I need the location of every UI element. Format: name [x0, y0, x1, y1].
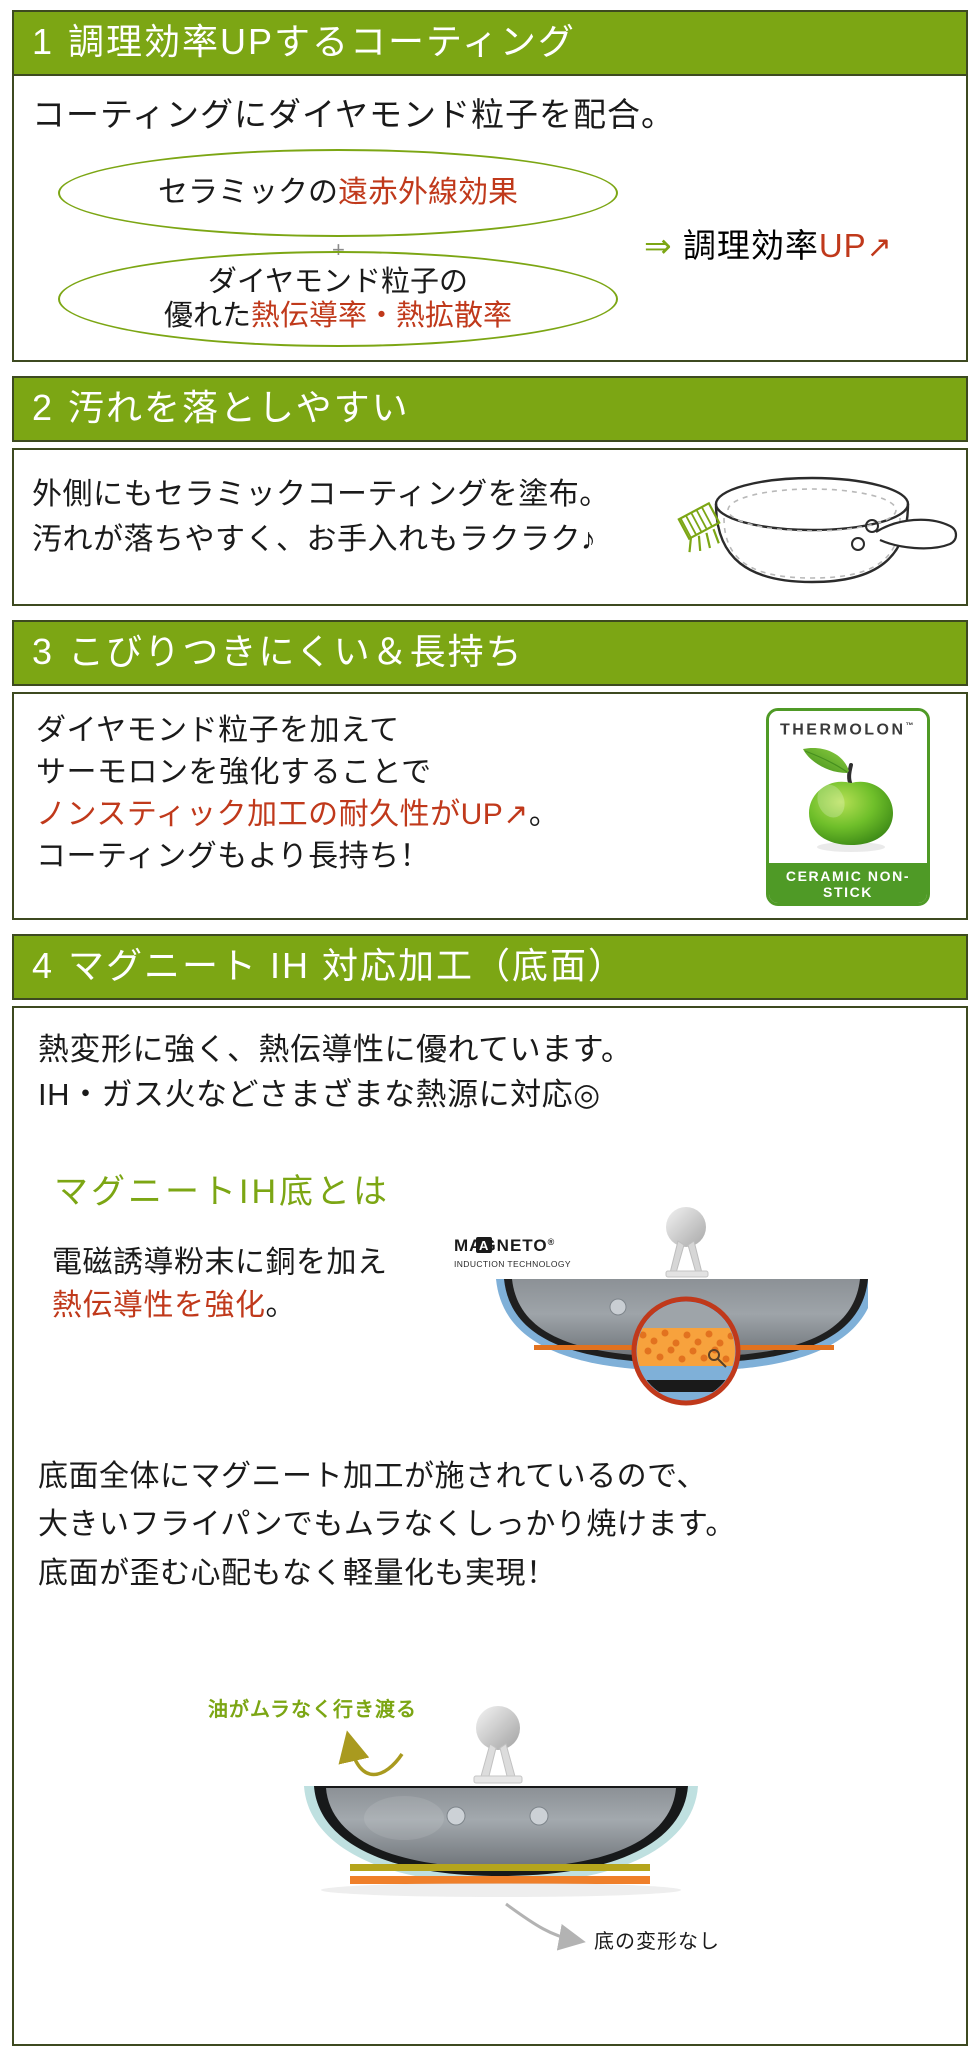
section-3-header: 3こびりつきにくい＆長持ち: [12, 620, 968, 686]
right-arrow-icon: ⇒: [644, 227, 673, 264]
label-oil-spreads: 油がムラなく行き渡る: [208, 1697, 417, 1721]
magneto-subtitle: INDUCTION TECHNOLOGY: [454, 1259, 571, 1269]
section-2-number: 2: [32, 387, 54, 428]
thermolon-logo: THERMOLON™: [766, 708, 930, 906]
section-4-body: 熱変形に強く、熱伝導性に優れています。 IH・ガス火などさまざまな熱源に対応◎ …: [12, 1006, 968, 2046]
ellipse1-black-text: セラミックの: [158, 176, 338, 209]
section-3-title: こびりつきにくい＆長持ち: [68, 631, 524, 672]
section-2-title: 汚れを落としやすい: [68, 387, 410, 428]
ellipse2-line2-black: 優れた: [164, 300, 251, 332]
section-2-easy-clean: 2汚れを落としやすい 外側にもセラミックコーティングを塗布。 汚れが落ちやすく、…: [12, 376, 968, 606]
section-4-middle-block: 電磁誘導粉末に銅を加え 熱伝導性を強化。: [38, 1241, 948, 1451]
ellipse2-line1: ダイヤモンド粒子の: [208, 266, 468, 298]
section-4-number: 4: [32, 945, 54, 986]
thermolon-wordmark: THERMOLON™: [769, 711, 927, 739]
section-1-diagram: セラミックの遠赤外線効果 + ダイヤモンド粒子の 優れた熱伝導率・熱拡散率 ⇒ …: [32, 145, 948, 345]
section-2-body: 外側にもセラミックコーティングを塗布。 汚れが落ちやすく、お手入れもラクラク♪: [12, 448, 968, 606]
pan-no-deformation-diagram: 油がムラなく行き渡る 底の変形なし: [154, 1668, 854, 1968]
thermolon-name: THERMOLON: [780, 721, 906, 738]
ellipse-diamond-conductivity: ダイヤモンド粒子の 優れた熱伝導率・熱拡散率: [58, 251, 618, 347]
thermolon-caption-sub: RESPONSIBLE TECHNOLOGY: [769, 902, 927, 906]
section-4-magneto-ih: 4マグニート IH 対応加工（底面） 熱変形に強く、熱伝導性に優れています。 I…: [12, 934, 968, 2046]
magneto-pan-cross-section-icon: MAGNETO® A INDUCTION TECHNOLOGY: [438, 1203, 868, 1433]
section-4-title: マグニート IH 対応加工（底面）: [68, 945, 626, 986]
ellipse-ceramic-infrared: セラミックの遠赤外線効果: [58, 149, 618, 237]
up-right-arrow-icon: ↗: [867, 231, 893, 264]
section-3-body: ダイヤモンド粒子を加えて サーモロンを強化することで ノンスティック加工の耐久性…: [12, 692, 968, 920]
svg-text:A: A: [479, 1238, 489, 1253]
result-black-text: 調理効率: [683, 227, 819, 264]
section-3-line-3-tail: 。: [529, 798, 560, 831]
green-apple-icon: [769, 739, 930, 857]
section-4-para-line-3: 底面が歪む心配もなく軽量化も実現！: [38, 1552, 948, 1596]
section-3-nonstick-durable: 3こびりつきにくい＆長持ち ダイヤモンド粒子を加えて サーモロンを強化することで…: [12, 620, 968, 920]
thermolon-caption-main: CERAMIC NON-STICK: [769, 868, 927, 900]
section-1-title: 調理効率UPするコーティング: [68, 21, 576, 62]
thermolon-logo-top: THERMOLON™: [769, 711, 927, 863]
saucepan-with-brush-icon: [662, 458, 962, 608]
section-4-para-line-1: 底面全体にマグニート加工が施されているので、: [38, 1455, 948, 1499]
magneto-wordmark: MAGNETO®: [454, 1236, 555, 1255]
section-4-lead-line-2: IH・ガス火などさまざまな熱源に対応◎: [38, 1073, 948, 1118]
section-3-line-3-red: ノンスティック加工の耐久性がUP↗: [36, 798, 529, 831]
label-no-deformation: 底の変形なし: [594, 1930, 720, 1953]
section-1-number: 1: [32, 21, 54, 62]
section-1-coating: 1調理効率UPするコーティング コーティングにダイヤモンド粒子を配合。 セラミッ…: [12, 10, 968, 362]
section-1-header: 1調理効率UPするコーティング: [12, 10, 968, 76]
section-1-body: コーティングにダイヤモンド粒子を配合。 セラミックの遠赤外線効果 + ダイヤモン…: [12, 76, 968, 362]
product-feature-page: 1調理効率UPするコーティング コーティングにダイヤモンド粒子を配合。 セラミッ…: [0, 0, 980, 1960]
section-4-header: 4マグニート IH 対応加工（底面）: [12, 934, 968, 1000]
section-4-lead-line-1: 熱変形に強く、熱伝導性に優れています。: [38, 1028, 948, 1073]
ellipse2-line2-red: 熱伝導率・熱拡散率: [251, 300, 512, 332]
section-4-mid-line-2-red: 熱伝導性を強化: [52, 1289, 266, 1322]
section-1-result: ⇒ 調理効率UP↗: [644, 219, 893, 267]
thermolon-trademark: ™: [906, 721, 917, 730]
section-3-number: 3: [32, 631, 54, 672]
section-1-lead: コーティングにダイヤモンド粒子を配合。: [32, 92, 948, 139]
result-red-text: UP: [819, 227, 867, 264]
section-4-para-line-2: 大きいフライパンでもムラなくしっかり焼けます。: [38, 1503, 948, 1547]
section-4-mid-line-2-tail: 。: [266, 1289, 297, 1322]
thermolon-logo-caption: CERAMIC NON-STICK RESPONSIBLE TECHNOLOGY: [769, 863, 927, 906]
ellipse1-red-text: 遠赤外線効果: [338, 176, 518, 209]
section-2-header: 2汚れを落としやすい: [12, 376, 968, 442]
